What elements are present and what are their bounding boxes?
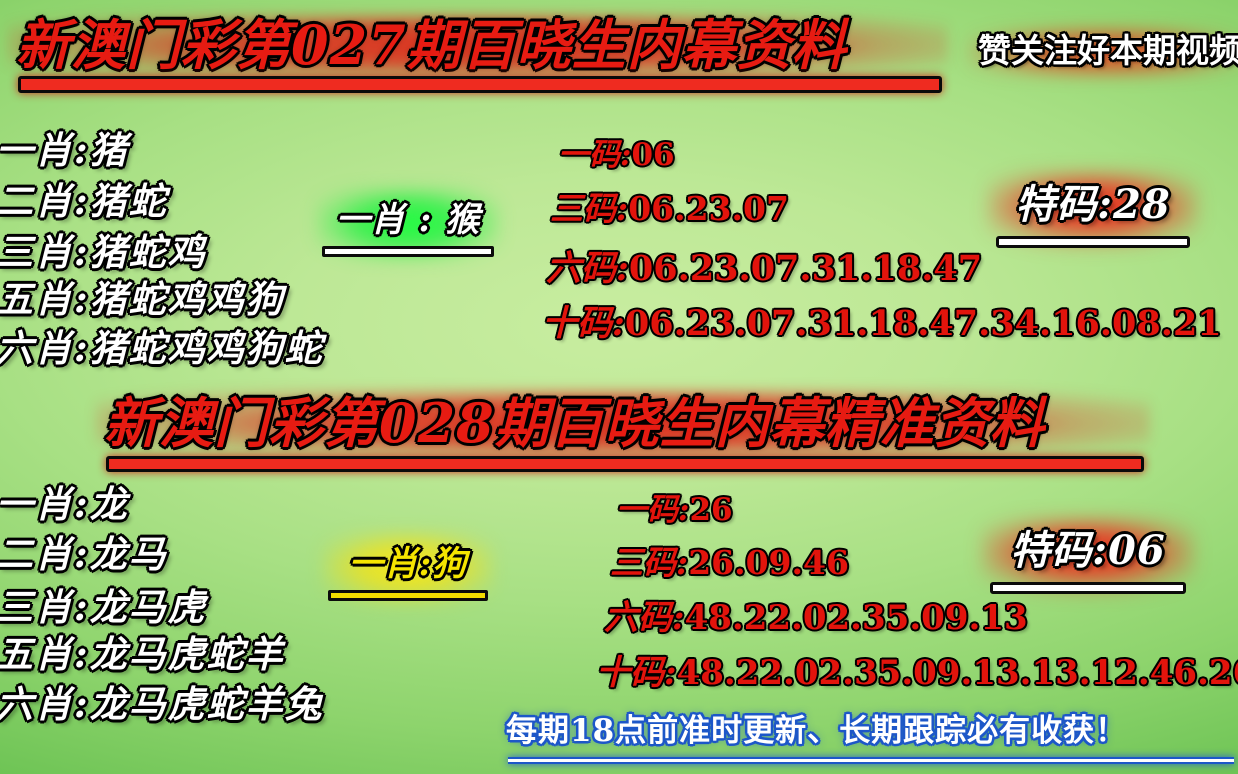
- code-value: 06.23.07.31.18.47: [629, 248, 982, 289]
- section-2-title: 新澳门彩第028期百晓生内幕精准资料: [104, 396, 1045, 450]
- zodiac-row-1: 一肖:猪: [0, 132, 129, 169]
- code-row-10: 十码:06.23.07.31.18.47.34.16.08.21: [542, 306, 1222, 341]
- code-row-6: 六码:06.23.07.31.18.47: [546, 251, 982, 286]
- code-value: 48.22.02.35.09.13.13.12.46.26.03: [677, 653, 1238, 693]
- poster-canvas: 新澳门彩第027期百晓生内幕资料 赞关注好本期视频 一肖:猪 二肖:猪蛇 三肖:…: [0, 0, 1238, 774]
- zodiac2-row-3: 三肖:龙马虎: [0, 589, 207, 626]
- code2-row-6: 六码:48.22.02.35.09.13: [604, 601, 1028, 635]
- footer-underline: [508, 757, 1234, 764]
- badge-label: 一肖:狗: [328, 536, 488, 585]
- code-value: 26.09.46: [688, 543, 849, 582]
- code-value: 06.23.07.31.18.47.34.16.08.21: [625, 303, 1222, 344]
- special-underline: [996, 236, 1190, 248]
- special-code-section-1: 特码:28: [988, 172, 1198, 248]
- footer-note: 每期18点前准时更新、长期跟踪必有收获！: [506, 716, 1127, 747]
- code-value: 26: [689, 492, 732, 528]
- highlight-badge-section-2: 一肖:狗: [328, 536, 488, 601]
- code-value: 06: [631, 137, 674, 173]
- code-label: 六码:: [546, 248, 629, 289]
- code-label: 一码:: [616, 492, 689, 528]
- code-value: 06.23.07: [628, 189, 789, 228]
- special-code-section-2: 特码:06: [982, 518, 1194, 594]
- special-underline: [990, 582, 1186, 594]
- code-label: 十码:: [542, 303, 625, 344]
- zodiac2-row-2: 二肖:龙马: [0, 536, 168, 573]
- code-label: 三码:: [610, 543, 688, 582]
- code2-row-1: 一码:26: [616, 495, 733, 526]
- title-2-underline: [106, 456, 1144, 472]
- code2-row-10: 十码:48.22.02.35.09.13.13.12.46.26.03: [596, 656, 1238, 690]
- badge-underline: [322, 246, 494, 257]
- code-label: 三码:: [550, 189, 628, 228]
- zodiac2-row-1: 一肖:龙: [0, 486, 129, 523]
- highlight-badge-section-1: 一肖 : 猴: [322, 192, 494, 257]
- zodiac-row-5: 五肖:猪蛇鸡鸡狗: [0, 281, 285, 318]
- special-code-label: 特码:06: [982, 518, 1194, 576]
- zodiac2-row-5: 五肖:龙马虎蛇羊: [0, 636, 285, 673]
- badge-label: 一肖 : 猴: [322, 192, 494, 241]
- badge-underline: [328, 590, 488, 601]
- code-row-3: 三码:06.23.07: [550, 192, 789, 225]
- code-label: 十码:: [596, 653, 677, 693]
- code-value: 48.22.02.35.09.13: [685, 598, 1028, 638]
- zodiac-row-6: 六肖:猪蛇鸡鸡狗蛇: [0, 330, 324, 367]
- zodiac2-row-6: 六肖:龙马虎蛇羊兔: [0, 686, 324, 723]
- promo-text: 赞关注好本期视频: [978, 34, 1238, 67]
- code-label: 一码:: [558, 137, 631, 173]
- title-1-underline: [18, 76, 942, 93]
- page-title: 新澳门彩第027期百晓生内幕资料: [16, 18, 847, 72]
- code-label: 六码:: [604, 598, 685, 638]
- code2-row-3: 三码:26.09.46: [610, 546, 849, 579]
- code-row-1: 一码:06: [558, 140, 675, 171]
- special-code-label: 特码:28: [988, 172, 1198, 230]
- zodiac-row-3: 三肖:猪蛇鸡: [0, 234, 207, 271]
- zodiac-row-2: 二肖:猪蛇: [0, 183, 168, 220]
